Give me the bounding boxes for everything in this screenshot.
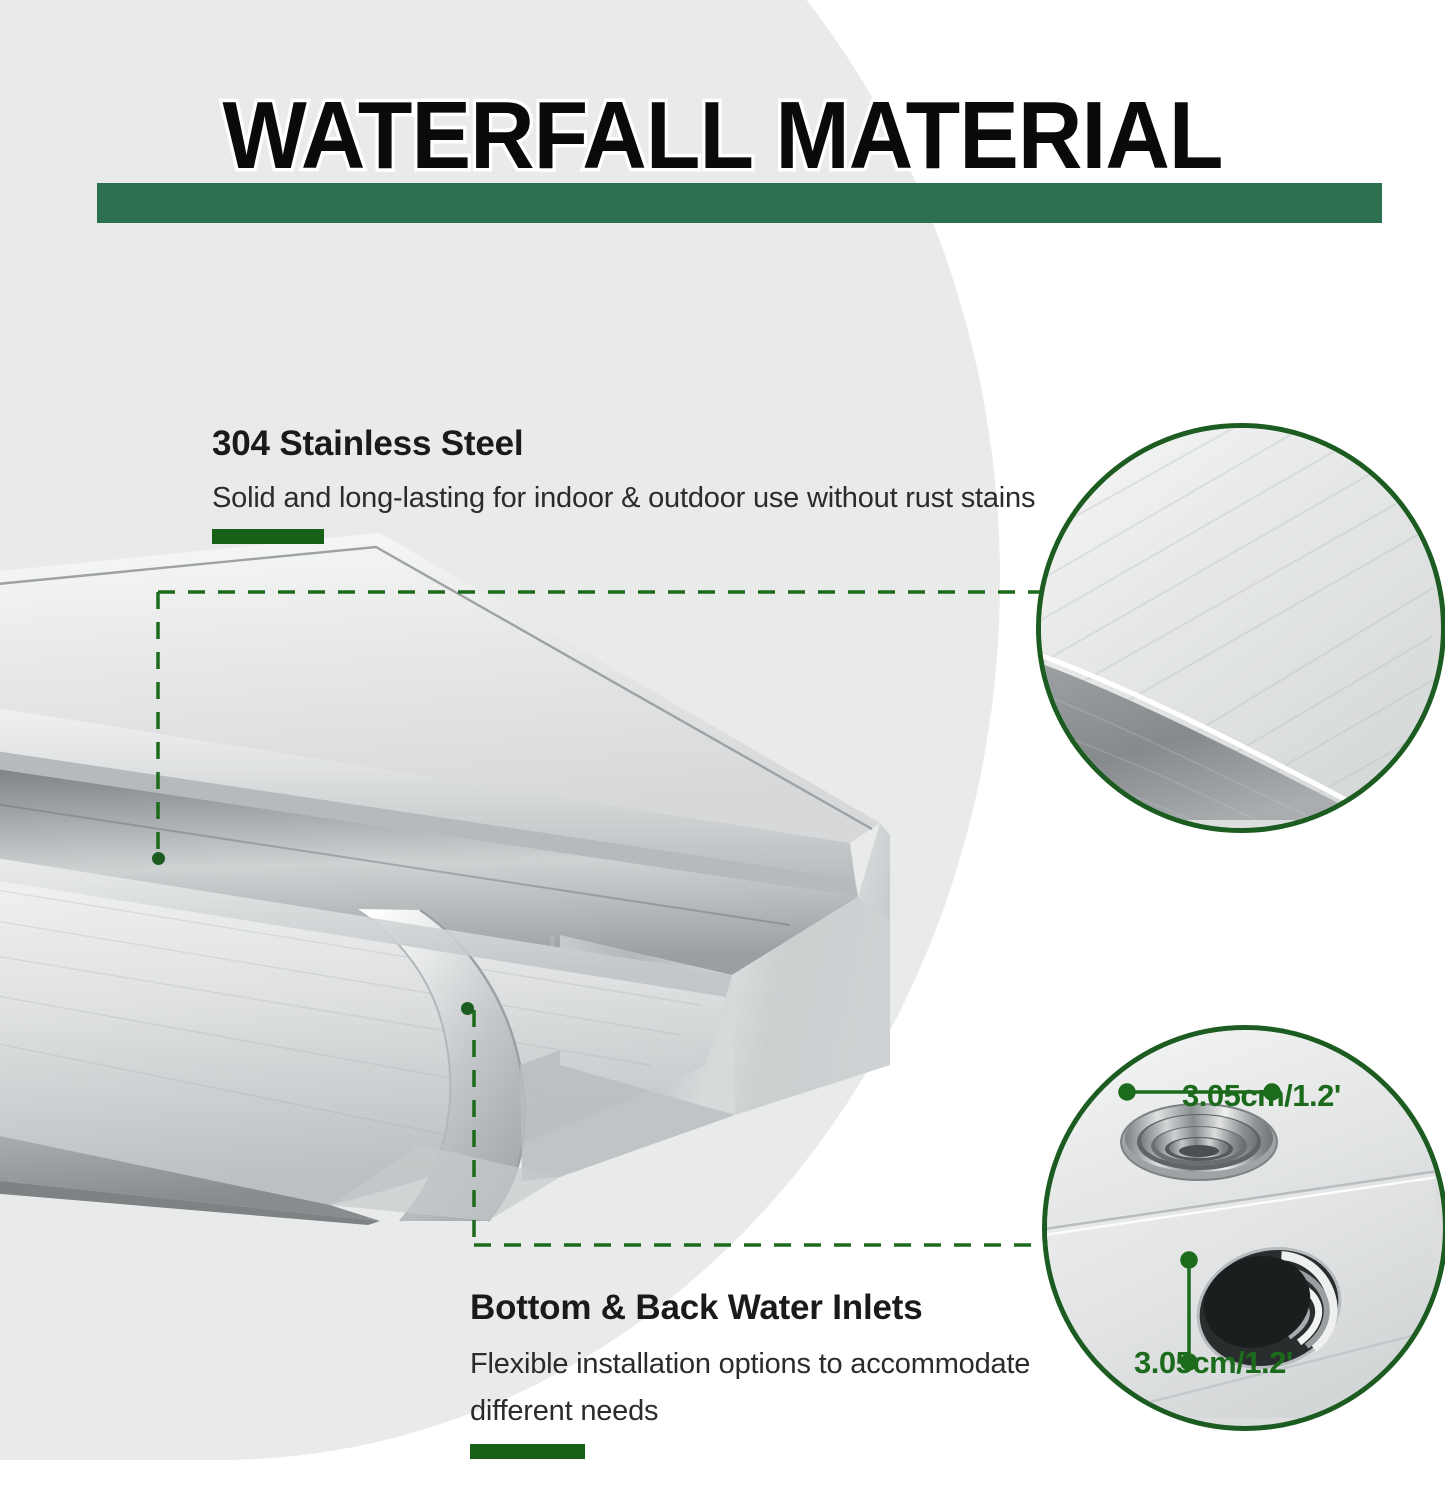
page-title: WATERFALL MATERIAL (51, 88, 1395, 184)
feature-description-material: Solid and long-lasting for indoor & outd… (212, 482, 1035, 515)
connector-endpoint-material (152, 852, 165, 865)
feature-heading-material: 304 Stainless Steel (212, 424, 1035, 464)
feature-description-inlets: Flexible installation options to accommo… (470, 1348, 1030, 1428)
feature-underline-inlets (470, 1444, 585, 1459)
feature-description-line: Solid and long-lasting for indoor & outd… (212, 482, 1035, 515)
title-green-bar (97, 183, 1382, 223)
feature-block-material: 304 Stainless Steel Solid and long-lasti… (212, 424, 1035, 544)
dimension-label-bottom-inlet: 3.05cm/1.2' (1134, 1345, 1293, 1381)
feature-block-inlets: Bottom & Back Water Inlets Flexible inst… (470, 1288, 1030, 1459)
infographic-canvas: WATERFALL MATERIAL (0, 0, 1445, 1497)
connector-line-inlets (460, 1000, 1060, 1260)
callout-brushed-steel (1036, 423, 1445, 833)
feature-description-line: different needs (470, 1395, 1030, 1428)
connector-endpoint-inlets (461, 1002, 474, 1015)
connector-line-material (140, 570, 1060, 880)
dimension-label-back-inlet: 3.05cm/1.2' (1182, 1078, 1341, 1114)
feature-underline-material (212, 529, 324, 544)
title-banner: WATERFALL MATERIAL (0, 0, 1445, 235)
feature-description-line: Flexible installation options to accommo… (470, 1348, 1030, 1381)
feature-heading-inlets: Bottom & Back Water Inlets (470, 1288, 1030, 1328)
